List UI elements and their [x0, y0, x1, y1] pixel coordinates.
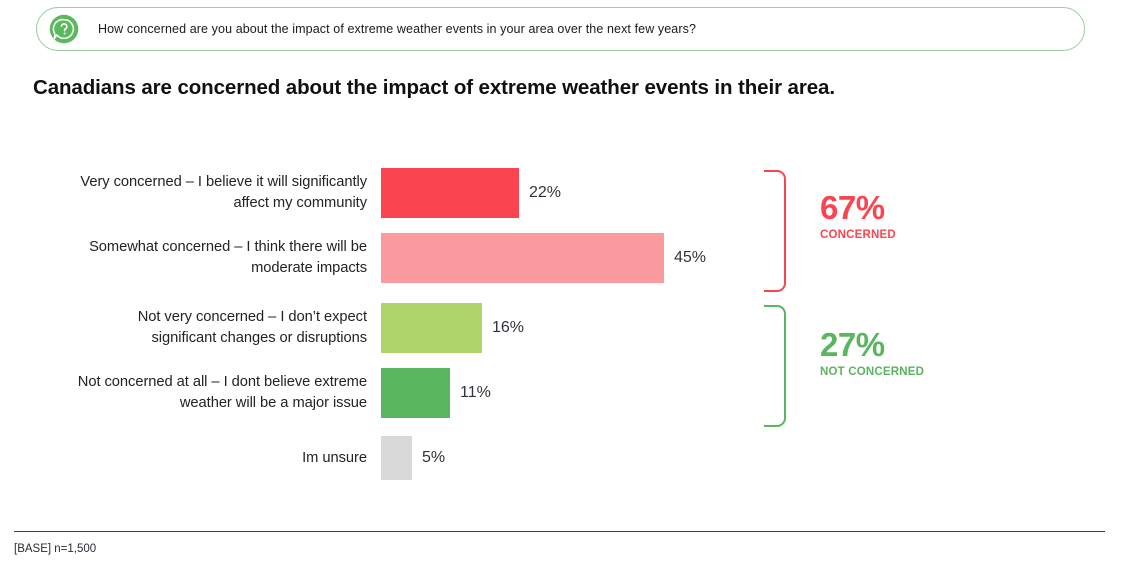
bar-fill[interactable]: [381, 168, 519, 218]
callout-percent: 27%: [820, 328, 924, 361]
bar-label: Not very concerned – I don’t expect sign…: [0, 307, 381, 349]
bar-label-line1: Im unsure: [0, 448, 367, 469]
bar-label-line1: Not very concerned – I don’t expect: [0, 307, 367, 328]
question-banner: How concerned are you about the impact o…: [36, 7, 1085, 51]
bar-chart: Very concerned – I believe it will signi…: [0, 160, 1121, 500]
bracket-concerned: [764, 170, 786, 292]
callout-label: CONCERNED: [820, 229, 896, 241]
bar-row: Not very concerned – I don’t expect sign…: [0, 303, 760, 353]
bar-row: Not concerned at all – I dont believe ex…: [0, 368, 760, 418]
question-speech-bubble-icon: [49, 14, 79, 44]
bar-value-label: 45%: [674, 249, 706, 267]
callout-concerned: 67% CONCERNED: [820, 191, 896, 241]
bar-label: Somewhat concerned – I think there will …: [0, 237, 381, 279]
bar-value-label: 11%: [460, 384, 491, 402]
bar-label-line1: Not concerned at all – I dont believe ex…: [0, 372, 367, 393]
bar-label-line1: Somewhat concerned – I think there will …: [0, 237, 367, 258]
question-text: How concerned are you about the impact o…: [98, 22, 696, 36]
bar-label-line2: moderate impacts: [0, 258, 367, 279]
bar-track: 45%: [381, 233, 760, 283]
bar-track: 16%: [381, 303, 760, 353]
bar-track: 11%: [381, 368, 760, 418]
bar-row: Very concerned – I believe it will signi…: [0, 168, 760, 218]
bar-label-line1: Very concerned – I believe it will signi…: [0, 172, 367, 193]
bar-value-label: 16%: [492, 319, 524, 337]
bar-label-line2: significant changes or disruptions: [0, 328, 367, 349]
bar-label-line2: affect my community: [0, 193, 367, 214]
bar-value-label: 5%: [422, 449, 445, 467]
page-title: Canadians are concerned about the impact…: [33, 76, 835, 100]
footer-divider: [14, 531, 1105, 532]
bar-value-label: 22%: [529, 184, 561, 202]
bar-track: 5%: [381, 436, 760, 480]
bar-row: Im unsure 5%: [0, 436, 760, 480]
bar-fill[interactable]: [381, 436, 412, 480]
bar-fill[interactable]: [381, 233, 664, 283]
bar-label-line2: weather will be a major issue: [0, 393, 367, 414]
bar-fill[interactable]: [381, 368, 450, 418]
callout-label: NOT CONCERNED: [820, 366, 924, 378]
bar-track: 22%: [381, 168, 760, 218]
bar-fill[interactable]: [381, 303, 482, 353]
bar-label: Very concerned – I believe it will signi…: [0, 172, 381, 214]
bracket-not-concerned: [764, 305, 786, 427]
footer-base-label: [BASE] n=1,500: [14, 543, 96, 555]
bar-label: Im unsure: [0, 448, 381, 469]
bar-row: Somewhat concerned – I think there will …: [0, 233, 760, 283]
bar-label: Not concerned at all – I dont believe ex…: [0, 372, 381, 414]
callout-percent: 67%: [820, 191, 896, 224]
callout-not-concerned: 27% NOT CONCERNED: [820, 328, 924, 378]
